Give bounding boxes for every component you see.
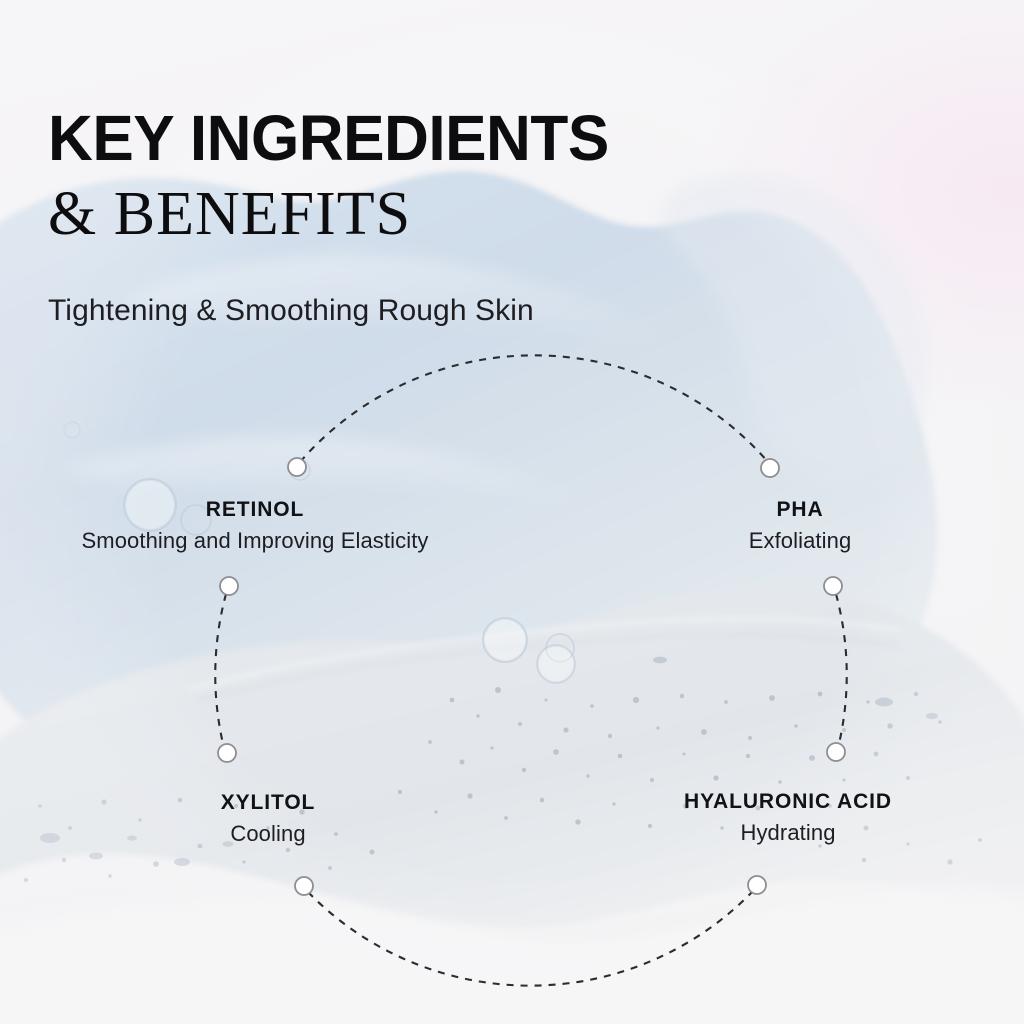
- ingredient-benefit: Cooling: [221, 820, 316, 849]
- ingredient-benefit: Hydrating: [684, 819, 892, 848]
- ingredient-hyaluronic-acid: HYALURONIC ACID Hydrating: [684, 790, 892, 848]
- title-line-secondary: & BENEFITS: [48, 183, 768, 245]
- ingredient-benefit: Smoothing and Improving Elasticity: [81, 527, 428, 556]
- ingredient-xylitol: XYLITOL Cooling: [221, 791, 316, 849]
- ingredient-name: HYALURONIC ACID: [684, 790, 892, 814]
- ingredient-pha: PHA Exfoliating: [749, 498, 852, 556]
- ingredient-benefit: Exfoliating: [749, 527, 852, 556]
- tagline: Tightening & Smoothing Rough Skin: [48, 294, 534, 328]
- title-line-primary: KEY INGREDIENTS: [48, 108, 746, 169]
- ingredient-retinol: RETINOL Smoothing and Improving Elastici…: [81, 498, 428, 556]
- ingredient-name: XYLITOL: [221, 791, 316, 815]
- ingredient-name: RETINOL: [81, 498, 428, 522]
- ingredient-name: PHA: [749, 498, 852, 522]
- page-title: KEY INGREDIENTS & BENEFITS: [48, 108, 768, 245]
- key-ingredients-infographic: KEY INGREDIENTS & BENEFITS Tightening & …: [0, 0, 1024, 1024]
